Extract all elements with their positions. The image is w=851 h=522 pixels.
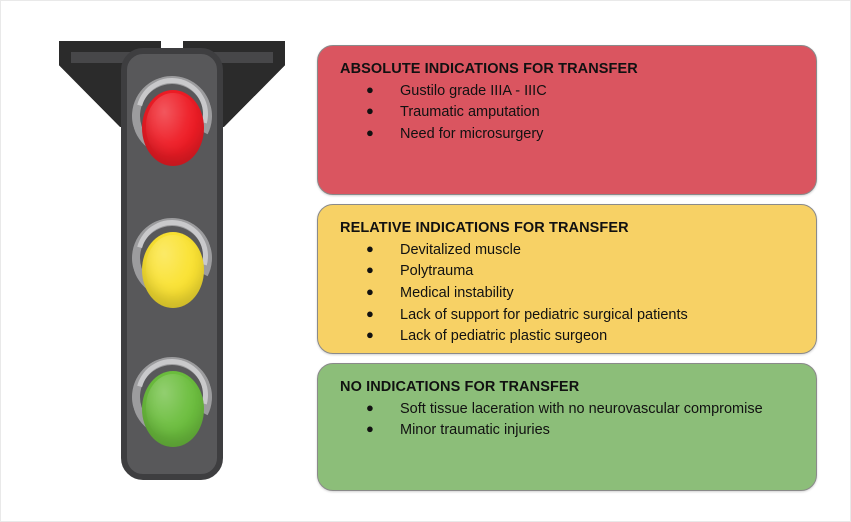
list-item-label: Devitalized muscle: [400, 242, 521, 258]
list-item-label: Traumatic amputation: [400, 104, 540, 120]
amber-lamp-shading: [142, 232, 204, 308]
green-light-slot: [131, 357, 213, 457]
bullet-icon: ●: [366, 420, 374, 438]
list-item-label: Minor traumatic injuries: [400, 422, 550, 438]
red-lamp-shading: [142, 90, 204, 166]
list-item-label: Soft tissue laceration with no neurovasc…: [400, 401, 763, 417]
no-indications-list: ●Soft tissue laceration with no neurovas…: [340, 399, 796, 441]
bullet-icon: ●: [366, 326, 374, 344]
traffic-light-graphic: [39, 41, 305, 487]
list-item: ●Need for microsurgery: [340, 124, 796, 145]
list-item-label: Lack of pediatric plastic surgeon: [400, 328, 607, 344]
bullet-icon: ●: [366, 240, 374, 258]
absolute-indications-card: ABSOLUTE INDICATIONS FOR TRANSFER ●Gusti…: [317, 45, 817, 195]
bullet-icon: ●: [366, 124, 374, 142]
bullet-icon: ●: [366, 261, 374, 279]
relative-indications-title: RELATIVE INDICATIONS FOR TRANSFER: [340, 219, 796, 238]
absolute-indications-title: ABSOLUTE INDICATIONS FOR TRANSFER: [340, 60, 796, 79]
relative-indications-list: ●Devitalized muscle ●Polytrauma ●Medical…: [340, 240, 796, 347]
no-indications-title: NO INDICATIONS FOR TRANSFER: [340, 378, 796, 397]
list-item-label: Polytrauma: [400, 263, 473, 279]
amber-light-slot: [131, 218, 213, 318]
bullet-icon: ●: [366, 81, 374, 99]
absolute-indications-list: ●Gustilo grade IIIA - IIIC ●Traumatic am…: [340, 81, 796, 145]
list-item: ●Traumatic amputation: [340, 102, 796, 123]
list-item: ●Soft tissue laceration with no neurovas…: [340, 399, 796, 420]
relative-indications-card: RELATIVE INDICATIONS FOR TRANSFER ●Devit…: [317, 204, 817, 354]
bullet-icon: ●: [366, 283, 374, 301]
list-item: ●Minor traumatic injuries: [340, 420, 796, 441]
list-item-label: Medical instability: [400, 285, 514, 301]
list-item-label: Lack of support for pediatric surgical p…: [400, 307, 688, 323]
list-item: ●Medical instability: [340, 283, 796, 304]
green-lamp-shading: [142, 371, 204, 447]
bullet-icon: ●: [366, 305, 374, 323]
list-item: ●Devitalized muscle: [340, 240, 796, 261]
traffic-light-housing: [121, 48, 223, 480]
list-item: ●Gustilo grade IIIA - IIIC: [340, 81, 796, 102]
list-item-label: Gustilo grade IIIA - IIIC: [400, 83, 547, 99]
list-item: ●Lack of pediatric plastic surgeon: [340, 326, 796, 347]
list-item: ●Polytrauma: [340, 261, 796, 282]
red-light-slot: [131, 76, 213, 176]
bullet-icon: ●: [366, 399, 374, 417]
list-item: ●Lack of support for pediatric surgical …: [340, 305, 796, 326]
list-item-label: Need for microsurgery: [400, 126, 543, 142]
no-indications-card: NO INDICATIONS FOR TRANSFER ●Soft tissue…: [317, 363, 817, 491]
bullet-icon: ●: [366, 102, 374, 120]
traffic-light-transfer-indications-figure: ABSOLUTE INDICATIONS FOR TRANSFER ●Gusti…: [0, 0, 851, 522]
